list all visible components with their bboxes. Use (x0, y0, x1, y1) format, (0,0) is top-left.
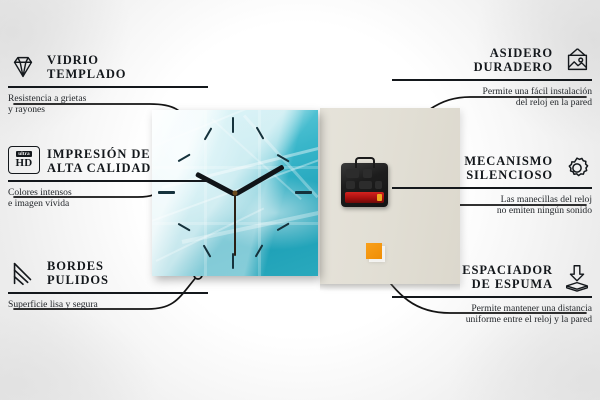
callout-title: BORDES PULIDOS (47, 259, 109, 287)
callout-description: Permite mantener una distancia uniforme … (392, 303, 592, 326)
callout-description: Resistencia a grietas y rayones (8, 93, 208, 116)
callout-espaciador-espuma: ESPACIADOR DE ESPUMA Permite mantener un… (392, 262, 592, 326)
callout-heading: MECANISMO SILENCIOSO (392, 153, 592, 183)
clock-second-hand (234, 194, 236, 256)
foam-spacer (366, 243, 382, 259)
callout-impresion-alta-calidad: ultra HD IMPRESIÓN DE ALTA CALIDAD Color… (8, 146, 208, 210)
mechanism-battery (345, 192, 384, 203)
callout-rule (392, 296, 592, 298)
callout-title: MECANISMO SILENCIOSO (464, 154, 553, 182)
callout-mecanismo-silencioso: MECANISMO SILENCIOSO Las manecillas del … (392, 153, 592, 217)
callout-description: Las manecillas del reloj no emiten ningú… (392, 194, 592, 217)
callout-heading: ESPACIADOR DE ESPUMA (392, 262, 592, 292)
callout-rule (8, 180, 208, 182)
callout-heading: ultra HD IMPRESIÓN DE ALTA CALIDAD (8, 146, 208, 176)
callout-rule (392, 79, 592, 81)
foam-spacer-icon (562, 262, 592, 292)
polished-edges-icon (8, 258, 38, 288)
callout-rule (8, 86, 208, 88)
callout-title: ESPACIADOR DE ESPUMA (462, 263, 553, 291)
ultra-hd-icon: ultra HD (8, 146, 38, 176)
mechanism-hanger-icon (355, 157, 375, 168)
callout-description: Colores intensos e imagen vívida (8, 187, 208, 210)
picture-hanger-icon (562, 45, 592, 75)
callout-bordes-pulidos: BORDES PULIDOS Superficie lisa y segura (8, 258, 208, 310)
infographic-canvas: VIDRIO TEMPLADO Resistencia a grietas y … (0, 0, 600, 400)
callout-description: Permite una fácil instalación del reloj … (392, 86, 592, 109)
clock-tick (295, 191, 312, 194)
callout-heading: ASIDERO DURADERO (392, 45, 592, 75)
callout-heading: VIDRIO TEMPLADO (8, 52, 208, 82)
callout-rule (8, 292, 208, 294)
ultra-hd-big-text: HD (15, 158, 32, 169)
gear-icon (562, 153, 592, 183)
callout-title: ASIDERO DURADERO (474, 46, 553, 74)
diamond-icon (8, 52, 38, 82)
clock-mechanism (341, 163, 388, 207)
callout-title: IMPRESIÓN DE ALTA CALIDAD (47, 147, 151, 175)
clock-center-pin (233, 191, 238, 196)
callout-asidero-duradero: ASIDERO DURADERO Permite una fácil insta… (392, 45, 592, 109)
callout-heading: BORDES PULIDOS (8, 258, 208, 288)
callout-title: VIDRIO TEMPLADO (47, 53, 126, 81)
callout-description: Superficie lisa y segura (8, 299, 208, 311)
callout-vidrio-templado: VIDRIO TEMPLADO Resistencia a grietas y … (8, 52, 208, 116)
callout-rule (392, 187, 592, 189)
